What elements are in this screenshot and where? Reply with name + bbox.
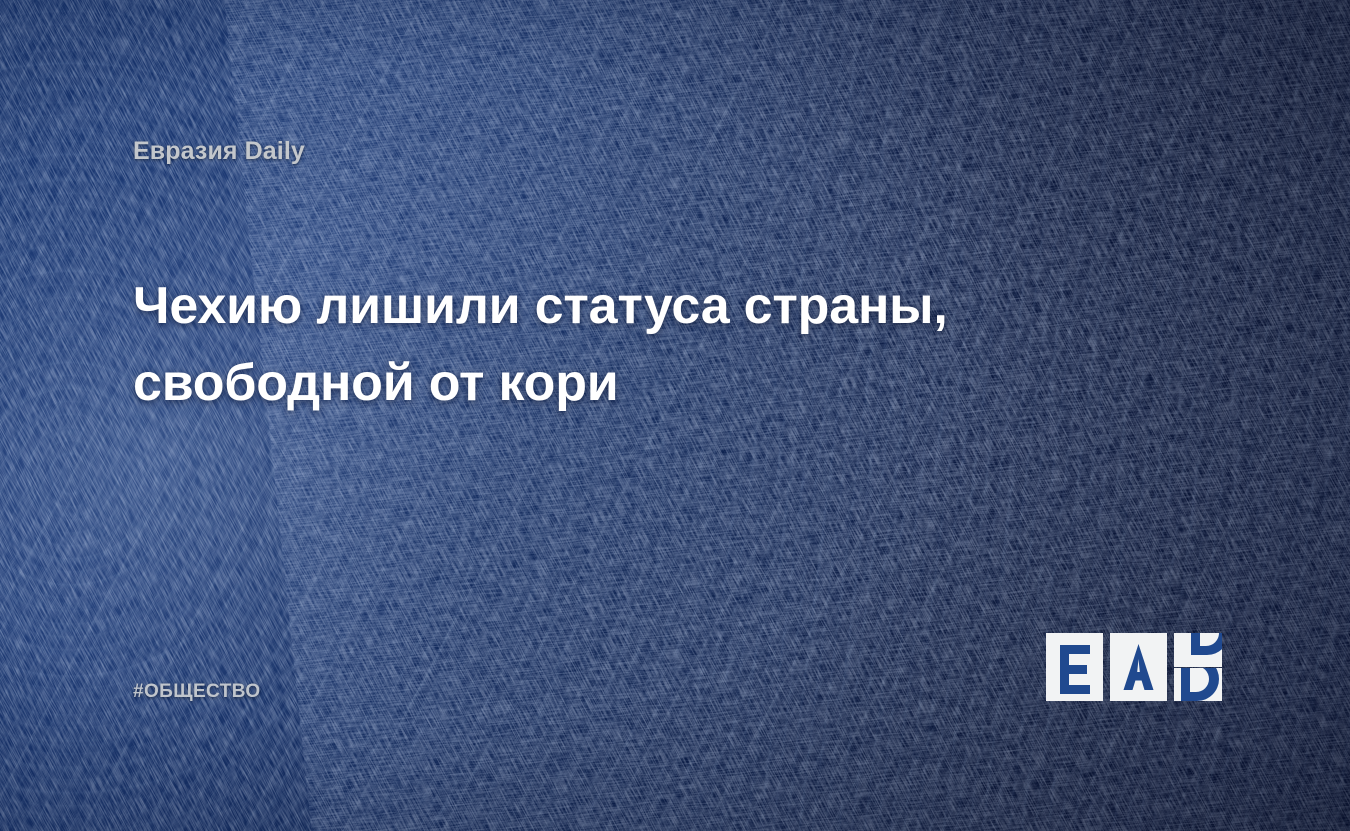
category-tag[interactable]: #ОБЩЕСТВО xyxy=(133,681,261,703)
headline: Чехию лишили статуса страны, свободной о… xyxy=(133,268,1033,422)
card-content: Евразия Daily Чехию лишили статуса стран… xyxy=(0,0,1350,831)
logo-tile-d xyxy=(1174,633,1222,701)
news-card: Евразия Daily Чехию лишили статуса стран… xyxy=(0,0,1350,831)
ead-logo[interactable] xyxy=(1046,633,1222,703)
headline-line-2: свободной от кори xyxy=(133,345,1033,422)
logo-tile-e xyxy=(1046,633,1103,701)
logo-tile-a xyxy=(1110,633,1167,701)
headline-line-1: Чехию лишили статуса страны, xyxy=(133,268,1033,345)
brand-title: Евразия Daily xyxy=(133,137,305,166)
